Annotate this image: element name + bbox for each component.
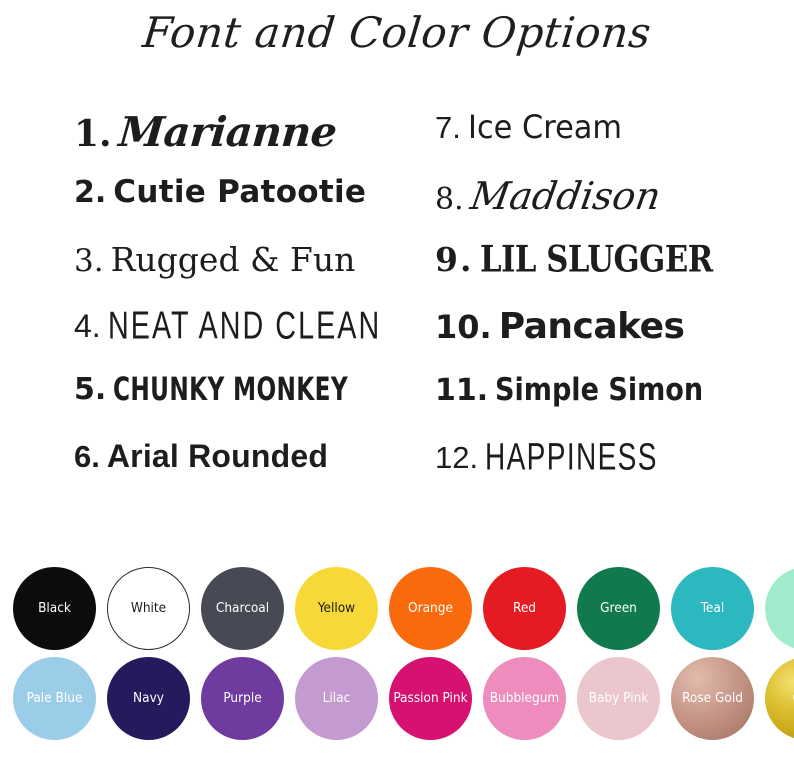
- color-row-2: Pale BlueNavyPurpleLilacPassion PinkBubb…: [13, 653, 781, 743]
- color-swatch[interactable]: Lilac: [295, 657, 378, 740]
- color-swatch[interactable]: Teal: [671, 567, 754, 650]
- color-swatch-label: Baby Pink: [587, 691, 651, 705]
- font-option-row[interactable]: 10.Pancakes: [435, 306, 794, 372]
- font-option-row[interactable]: 2.Cutie Patootie: [74, 174, 415, 240]
- color-swatch[interactable]: Red: [483, 567, 566, 650]
- color-swatch-label: Orange: [406, 601, 455, 615]
- color-swatch-label: White: [129, 601, 168, 615]
- font-option-number: 5.: [74, 372, 106, 407]
- font-option-name: Simple Simon: [495, 372, 703, 408]
- color-swatch-label: Rose Gold: [680, 691, 745, 705]
- color-swatch[interactable]: Orange: [389, 567, 472, 650]
- color-swatch-label: Yellow: [316, 601, 357, 615]
- font-option-row[interactable]: 4.NEAT AND CLEAN: [74, 306, 415, 372]
- font-column-left: 1.Marianne2.Cutie Patootie3.Rugged & Fun…: [0, 108, 415, 528]
- color-row-1: BlackWhiteCharcoalYellowOrangeRedGreenTe…: [13, 563, 781, 653]
- font-option-name: HAPPINESS: [485, 435, 658, 478]
- color-swatch-label: Black: [36, 601, 73, 615]
- color-swatch[interactable]: Green: [577, 567, 660, 650]
- color-swatch[interactable]: Passion Pink: [389, 657, 472, 740]
- font-column-right: 7.Ice Cream8.Maddison9.LIL SLUGGER10.Pan…: [415, 108, 794, 528]
- font-option-number: 2.: [74, 175, 106, 210]
- font-option-name: LIL SLUGGER: [480, 239, 713, 281]
- color-swatch[interactable]: Bubblegum: [483, 657, 566, 740]
- color-swatch[interactable]: Charcoal: [201, 567, 284, 650]
- font-option-name: Rugged & Fun: [111, 240, 356, 279]
- font-option-name: Pancakes: [499, 306, 685, 347]
- color-swatch-label: Bubblegum: [488, 691, 562, 705]
- font-option-row[interactable]: 3.Rugged & Fun: [74, 240, 415, 306]
- color-swatch[interactable]: Navy: [107, 657, 190, 740]
- font-option-number: 8.: [435, 182, 464, 217]
- color-swatch-label: Purple: [221, 691, 263, 705]
- color-options-grid: BlackWhiteCharcoalYellowOrangeRedGreenTe…: [13, 563, 781, 743]
- font-option-row[interactable]: 6.Arial Rounded: [74, 438, 415, 504]
- font-option-row[interactable]: 12.HAPPINESS: [435, 438, 794, 504]
- color-swatch[interactable]: Yellow: [295, 567, 378, 650]
- color-swatch-label: Lilac: [321, 691, 353, 705]
- color-swatch[interactable]: Gold: [765, 657, 794, 740]
- font-option-name: CHUNKY MONKEY: [113, 371, 348, 409]
- font-option-name: Arial Rounded: [107, 438, 328, 475]
- color-swatch[interactable]: Black: [13, 567, 96, 650]
- font-option-number: 9.: [435, 240, 473, 279]
- font-option-row[interactable]: 1.Marianne: [74, 108, 415, 174]
- color-swatch[interactable]: Rose Gold: [671, 657, 754, 740]
- color-swatch-label: Red: [511, 601, 538, 615]
- color-swatch-label: Teal: [699, 601, 726, 615]
- font-option-number: 11.: [435, 373, 488, 408]
- font-option-number: 10.: [435, 308, 492, 346]
- color-swatch-label: Pale Blue: [25, 691, 85, 705]
- font-option-name: Cutie Patootie: [113, 174, 366, 210]
- font-option-row[interactable]: 7.Ice Cream: [435, 108, 794, 174]
- color-swatch[interactable]: Purple: [201, 657, 284, 740]
- color-swatch-label: Charcoal: [214, 601, 271, 615]
- font-option-row[interactable]: 11.Simple Simon: [435, 372, 794, 438]
- font-option-row[interactable]: 5.CHUNKY MONKEY: [74, 372, 415, 438]
- color-swatch-label: Passion Pink: [391, 691, 469, 705]
- font-option-name: Marianne: [116, 108, 338, 156]
- font-option-number: 7.: [435, 110, 461, 146]
- font-option-name: Maddison: [467, 174, 663, 218]
- font-option-row[interactable]: 8.Maddison: [435, 174, 794, 240]
- color-swatch-label: Green: [598, 601, 639, 615]
- font-option-number: 12.: [435, 440, 478, 476]
- font-option-name: Ice Cream: [468, 108, 622, 146]
- page-title: Font and Color Options: [0, 8, 794, 57]
- color-swatch[interactable]: White: [107, 567, 190, 650]
- font-option-number: 4.: [74, 308, 101, 345]
- font-option-number: 6.: [74, 439, 100, 475]
- font-option-name: NEAT AND CLEAN: [108, 304, 381, 349]
- font-options-list: 1.Marianne2.Cutie Patootie3.Rugged & Fun…: [0, 108, 794, 528]
- font-option-number: 3.: [74, 243, 104, 279]
- color-swatch[interactable]: Mint: [765, 567, 794, 650]
- color-swatch-label: Navy: [131, 691, 166, 705]
- color-swatch[interactable]: Baby Pink: [577, 657, 660, 740]
- font-option-number: 1.: [74, 113, 112, 155]
- color-swatch[interactable]: Pale Blue: [13, 657, 96, 740]
- font-option-row[interactable]: 9.LIL SLUGGER: [435, 240, 794, 306]
- color-swatch-label: Gold: [791, 691, 794, 705]
